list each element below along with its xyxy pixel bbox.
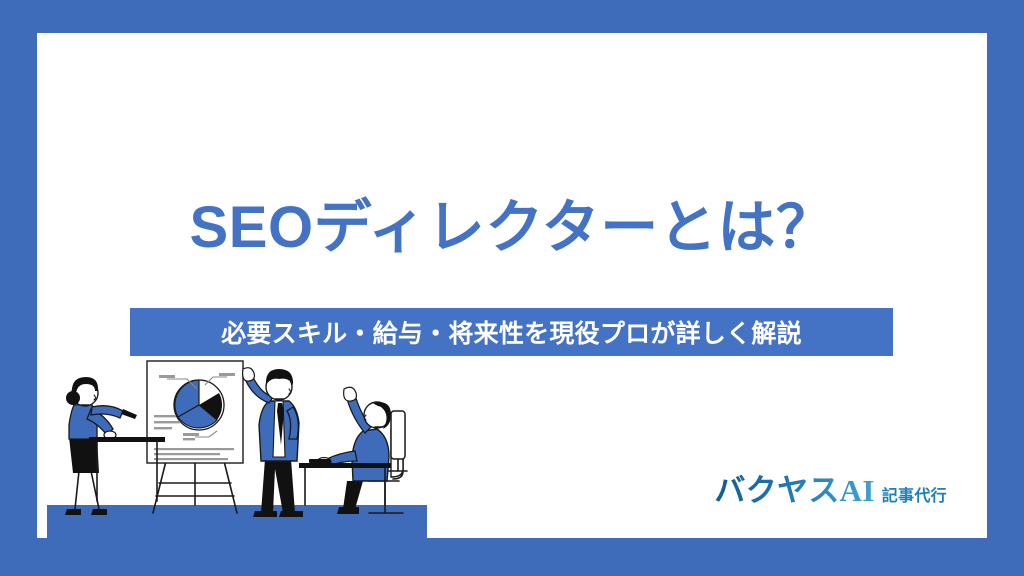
slide-inner-panel: SEOディレクターとは？ 必要スキル・給与・将来性を現役プロが詳しく解説 バクヤ…	[37, 33, 987, 538]
man-presenter-figure	[243, 368, 303, 517]
brand-service-text: 記事代行	[882, 482, 947, 506]
woman-figure	[65, 377, 137, 515]
brand-logo: バクヤスAI 記事代行	[714, 465, 947, 510]
brand-name-text: バクヤスAI	[714, 465, 874, 510]
slide-canvas: SEOディレクターとは？ 必要スキル・給与・将来性を現役プロが詳しく解説 バクヤ…	[0, 0, 1024, 576]
pie-chart	[174, 380, 224, 430]
subtitle-text: 必要スキル・給与・将来性を現役プロが詳しく解説	[221, 314, 802, 350]
business-team-illustration: .ln { fill:none; stroke:#1A1A1A; stroke-…	[47, 353, 427, 538]
page-title: SEOディレクターとは？	[37, 193, 987, 263]
subtitle-banner: 必要スキル・給与・将来性を現役プロが詳しく解説	[130, 308, 893, 356]
seated-person-figure	[317, 387, 403, 514]
